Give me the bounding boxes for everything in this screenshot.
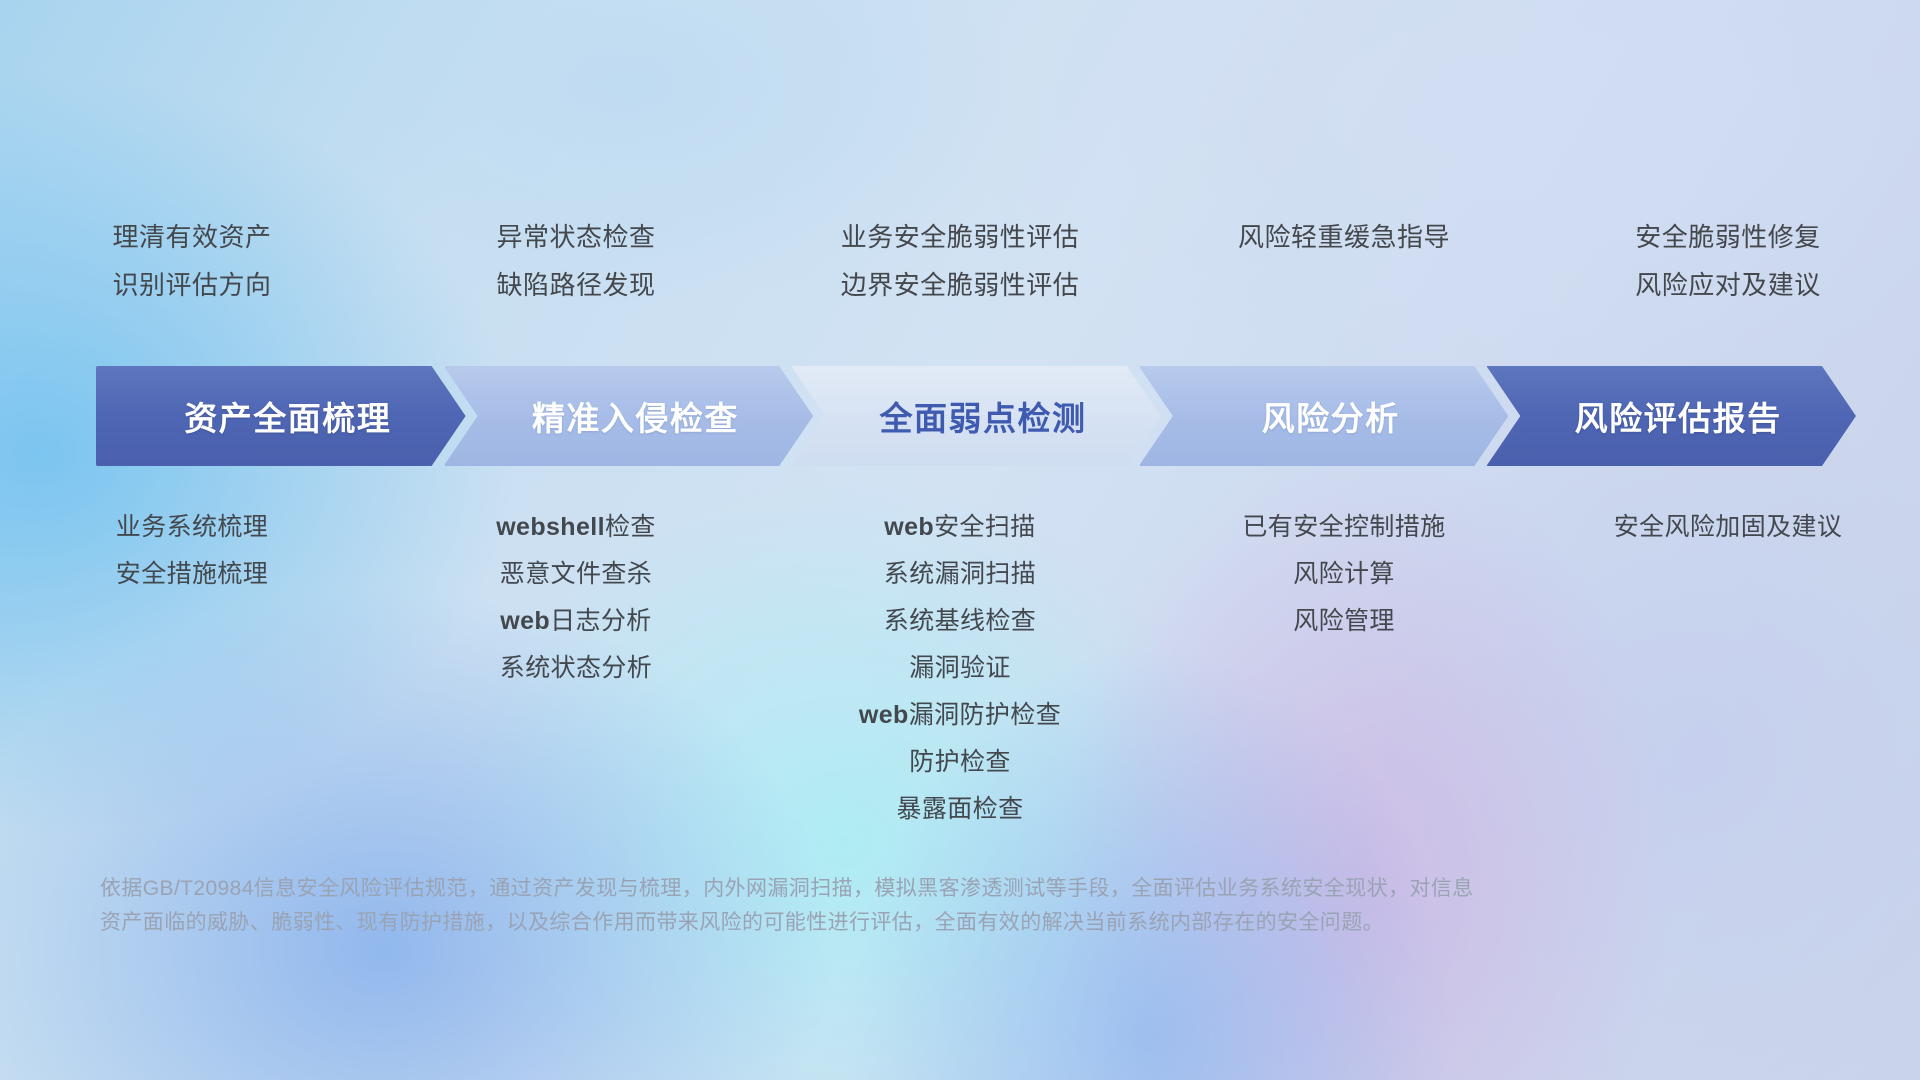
detail-list-item: 风险管理 [1293, 606, 1395, 636]
detail-list-item: 暴露面检查 [896, 794, 1023, 824]
detail-list-col-intrusion-inspection: webshell检查恶意文件查杀web日志分析系统状态分析 [384, 512, 768, 824]
footnote-line-1: 依据GB/T20984信息安全风险评估规范，通过资产发现与梳理，内外网漏洞扫描，… [100, 872, 1660, 906]
top-label-item: 边界安全脆弱性评估 [841, 270, 1080, 302]
detail-item-text: 检查 [605, 513, 656, 541]
process-stage-label: 风险评估报告 [1561, 392, 1782, 440]
top-label-item: 识别评估方向 [112, 270, 271, 302]
detail-item-text: 漏洞防护检查 [909, 701, 1061, 729]
process-stage-label: 精准入侵检查 [518, 392, 739, 440]
top-label-item: 风险轻重缓急指导 [1238, 222, 1450, 254]
top-label-item: 缺陷路径发现 [496, 270, 655, 302]
top-label-col-intrusion-inspection: 异常状态检查缺陷路径发现 [384, 222, 768, 301]
detail-list-item: web漏洞防护检查 [859, 700, 1061, 730]
top-label-col-assessment-report: 安全脆弱性修复风险应对及建议 [1536, 222, 1920, 301]
detail-list-row: 业务系统梳理安全措施梳理webshell检查恶意文件查杀web日志分析系统状态分… [0, 512, 1920, 824]
detail-item-text: 日志分析 [550, 607, 652, 635]
process-stage-weakness-detection[interactable]: 全面弱点检测 [791, 366, 1161, 466]
footnote: 依据GB/T20984信息安全风险评估规范，通过资产发现与梳理，内外网漏洞扫描，… [100, 872, 1660, 940]
detail-list-item: 恶意文件查杀 [500, 559, 652, 589]
detail-item-keyword: web [884, 513, 934, 541]
footnote-line-2: 资产面临的威胁、脆弱性、现有防护措施，以及综合作用而带来风险的可能性进行评估，全… [100, 906, 1660, 940]
process-stage-assessment-report[interactable]: 风险评估报告 [1486, 366, 1856, 466]
process-chevron-band: 资产全面梳理精准入侵检查全面弱点检测风险分析风险评估报告 [96, 366, 1856, 466]
detail-list-item: webshell检查 [496, 512, 656, 542]
process-stage-label: 全面弱点检测 [865, 392, 1086, 440]
process-stage-intrusion-inspection[interactable]: 精准入侵检查 [444, 366, 814, 466]
detail-list-item: 系统基线检查 [884, 606, 1036, 636]
process-stage-risk-analysis[interactable]: 风险分析 [1139, 366, 1509, 466]
detail-list-item: 安全风险加固及建议 [1614, 512, 1843, 542]
detail-list-col-weakness-detection: web安全扫描系统漏洞扫描系统基线检查漏洞验证web漏洞防护检查防护检查暴露面检… [768, 512, 1152, 824]
top-label-col-risk-analysis: 风险轻重缓急指导 [1152, 222, 1536, 301]
detail-list-item: 安全措施梳理 [116, 559, 268, 589]
detail-list-item: 业务系统梳理 [116, 512, 268, 542]
detail-item-keyword: webshell [496, 513, 605, 541]
detail-list-item: 防护检查 [909, 747, 1011, 777]
detail-item-keyword: web [500, 607, 550, 635]
detail-list-item: 系统漏洞扫描 [884, 559, 1036, 589]
detail-item-keyword: web [859, 701, 909, 729]
top-label-item: 理清有效资产 [112, 222, 271, 254]
detail-list-col-assessment-report: 安全风险加固及建议 [1536, 512, 1920, 824]
top-label-item: 业务安全脆弱性评估 [841, 222, 1080, 254]
detail-list-item: 系统状态分析 [500, 653, 652, 683]
detail-list-col-risk-analysis: 已有安全控制措施风险计算风险管理 [1152, 512, 1536, 824]
detail-list-item: web日志分析 [500, 606, 651, 636]
process-stage-label: 资产全面梳理 [170, 392, 391, 440]
detail-list-col-asset-inventory: 业务系统梳理安全措施梳理 [0, 512, 384, 824]
top-label-row: 理清有效资产识别评估方向异常状态检查缺陷路径发现业务安全脆弱性评估边界安全脆弱性… [0, 222, 1920, 301]
detail-list-item: 已有安全控制措施 [1242, 512, 1445, 542]
detail-item-text: 安全扫描 [934, 513, 1036, 541]
top-label-col-asset-inventory: 理清有效资产识别评估方向 [0, 222, 384, 301]
top-label-item: 风险应对及建议 [1635, 270, 1821, 302]
top-label-item: 安全脆弱性修复 [1635, 222, 1821, 254]
process-stage-label: 风险分析 [1248, 392, 1400, 440]
process-stage-asset-inventory[interactable]: 资产全面梳理 [96, 366, 466, 466]
detail-list-item: 漏洞验证 [909, 653, 1011, 683]
detail-list-item: 风险计算 [1293, 559, 1395, 589]
top-label-col-weakness-detection: 业务安全脆弱性评估边界安全脆弱性评估 [768, 222, 1152, 301]
top-label-item: 异常状态检查 [496, 222, 655, 254]
detail-list-item: web安全扫描 [884, 512, 1035, 542]
